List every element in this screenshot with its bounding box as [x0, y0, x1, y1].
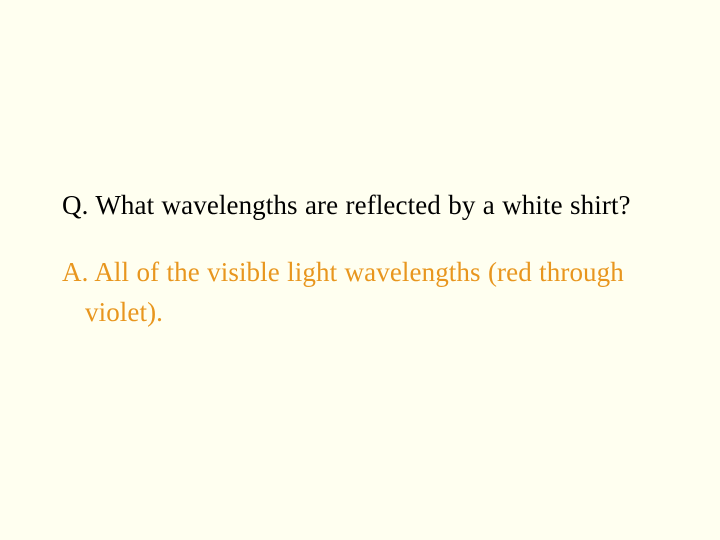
question-marker: Q.: [62, 190, 95, 220]
slide-canvas: Q. What wavelengths are reflected by a w…: [0, 0, 720, 540]
slide-body-text-block: Q. What wavelengths are reflected by a w…: [62, 158, 662, 359]
answer-text: All of the visible light wavelengths (re…: [85, 257, 624, 327]
answer-line: A. All of the visible light wavelengths …: [62, 252, 662, 332]
question-line: Q. What wavelengths are reflected by a w…: [62, 185, 662, 225]
question-text: What wavelengths are reflected by a whit…: [95, 190, 630, 220]
answer-marker: A.: [62, 257, 94, 287]
